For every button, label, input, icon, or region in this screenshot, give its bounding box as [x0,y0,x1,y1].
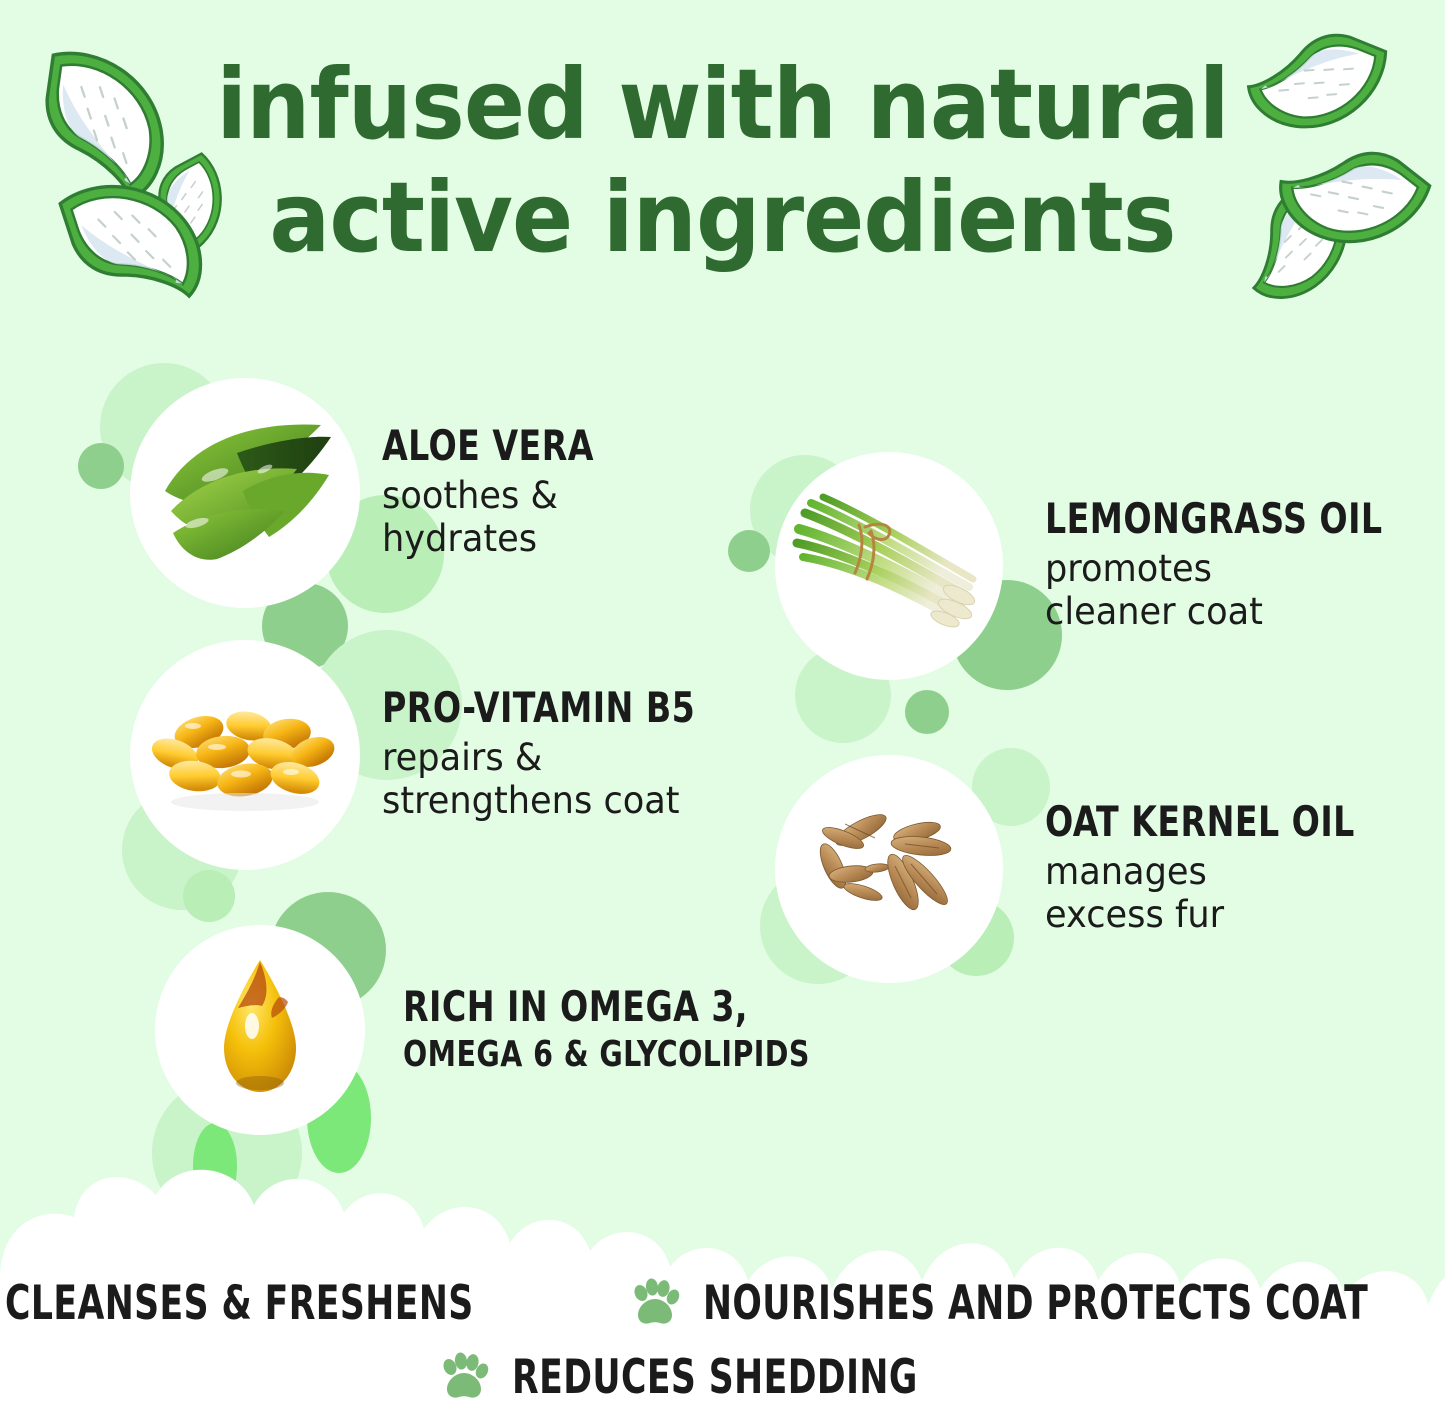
ingredient-text: OAT KERNEL OIL manages excess fur [1045,801,1397,936]
ingredient-image-circle [775,452,1003,680]
ingredient-title: LEMONGRASS OIL [1045,498,1383,541]
ingredient-omega: RICH IN OMEGA 3, OMEGA 6 & GLYCOLIPIDS [155,925,865,1135]
ingredient-text: LEMONGRASS OIL promotes cleaner coat [1045,498,1429,633]
benefit-label: NOURISHES AND PROTECTS COAT [703,1280,1368,1327]
aloe-leaf-icon [145,413,345,573]
ingredient-subtitle: soothes & hydrates [382,474,611,561]
paw-print-icon [629,1277,681,1329]
ingredient-title-line2: OMEGA 6 & GLYCOLIPIDS [403,1037,810,1074]
ingredient-subtitle: manages excess fur [1045,850,1379,937]
paw-print-icon [438,1351,490,1403]
decor-blob [905,690,949,734]
ingredient-pro-vitamin-b5: PRO-VITAMIN B5 repairs & strengthens coa… [130,640,738,870]
page-title-line1: infused with natural [216,48,1229,161]
benefits-row-1: CLEANSES & FRESHENS NOURISHES AND PROTEC… [0,1272,1445,1334]
benefit-label: CLEANSES & FRESHENS [5,1280,474,1327]
ingredient-image-circle [130,640,360,870]
decor-blob [183,870,235,922]
benefits-row-2: REDUCES SHEDDING [0,1346,1445,1408]
lemongrass-bundle-icon [789,491,989,641]
ingredient-image-circle [775,755,1003,983]
infographic-canvas: ALOE VERA soothes & hydrates [0,0,1445,1409]
ingredient-oat-kernel-oil: OAT KERNEL OIL manages excess fur [775,755,1397,983]
page-title-line2: active ingredients [51,161,1395,274]
benefit-nourishes: NOURISHES AND PROTECTS COAT [629,1277,1445,1329]
ingredient-title: PRO-VITAMIN B5 [382,687,695,730]
benefit-cleanses: CLEANSES & FRESHENS [0,1277,577,1329]
ingredient-text: RICH IN OMEGA 3, OMEGA 6 & GLYCOLIPIDS [403,986,865,1074]
benefit-label: REDUCES SHEDDING [512,1354,918,1401]
ingredient-title: OAT KERNEL OIL [1045,801,1355,844]
decor-blob [78,443,124,489]
ingredient-title: ALOE VERA [382,425,594,468]
ingredient-lemongrass-oil: LEMONGRASS OIL promotes cleaner coat [775,452,1429,680]
ingredient-text: PRO-VITAMIN B5 repairs & strengthens coa… [382,687,738,822]
page-title: infused with natural active ingredients [51,48,1395,275]
oil-droplet-icon [200,950,320,1110]
ingredient-image-circle [155,925,365,1135]
oat-kernels-icon [799,794,979,944]
ingredient-text: ALOE VERA soothes & hydrates [382,425,623,560]
decor-blob [728,530,770,572]
benefit-reduces-shedding: REDUCES SHEDDING [438,1351,1007,1403]
ingredient-title: RICH IN OMEGA 3, [403,986,810,1029]
ingredient-subtitle: promotes cleaner coat [1045,547,1409,634]
ingredient-aloe-vera: ALOE VERA soothes & hydrates [130,378,623,608]
ingredient-image-circle [130,378,360,608]
softgel-capsules-icon [145,690,345,820]
ingredient-subtitle: repairs & strengthens coat [382,736,720,823]
